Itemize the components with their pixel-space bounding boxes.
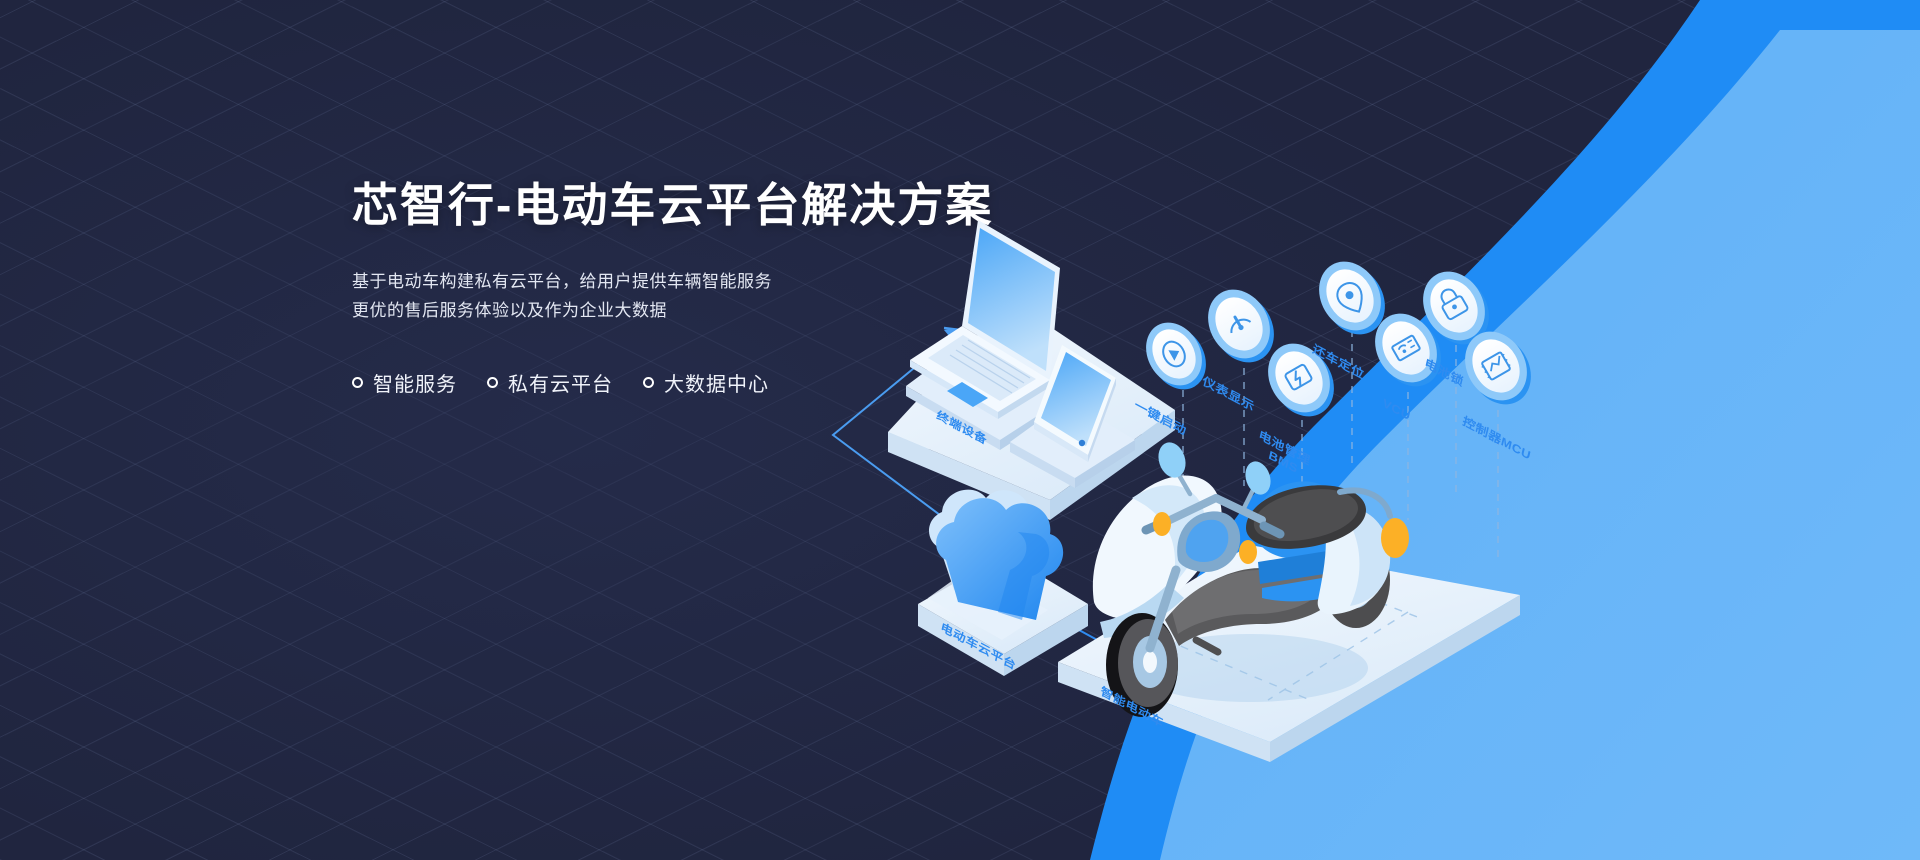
platform-scooter: 智能电动车 [1058, 439, 1520, 762]
isometric-illustration: 终端设备 电动车云平台 [0, 0, 1920, 860]
platform-terminal: 终端设备 [888, 220, 1175, 520]
hero-banner: 芯智行-电动车云平台解决方案 基于电动车构建私有云平台，给用户提供车辆智能服务 … [0, 0, 1920, 860]
scooter-icon [1093, 439, 1409, 717]
badge-label-vcu: VCU [1381, 396, 1411, 423]
badge-label-dashboard-display: 仪表显示 [1200, 373, 1255, 414]
platform-cloud: 电动车云平台 [918, 490, 1088, 676]
badge-label-controller-mcu: 控制器MCU [1461, 414, 1532, 463]
badge-dashboard-display[interactable]: 仪表显示 [1196, 278, 1286, 413]
